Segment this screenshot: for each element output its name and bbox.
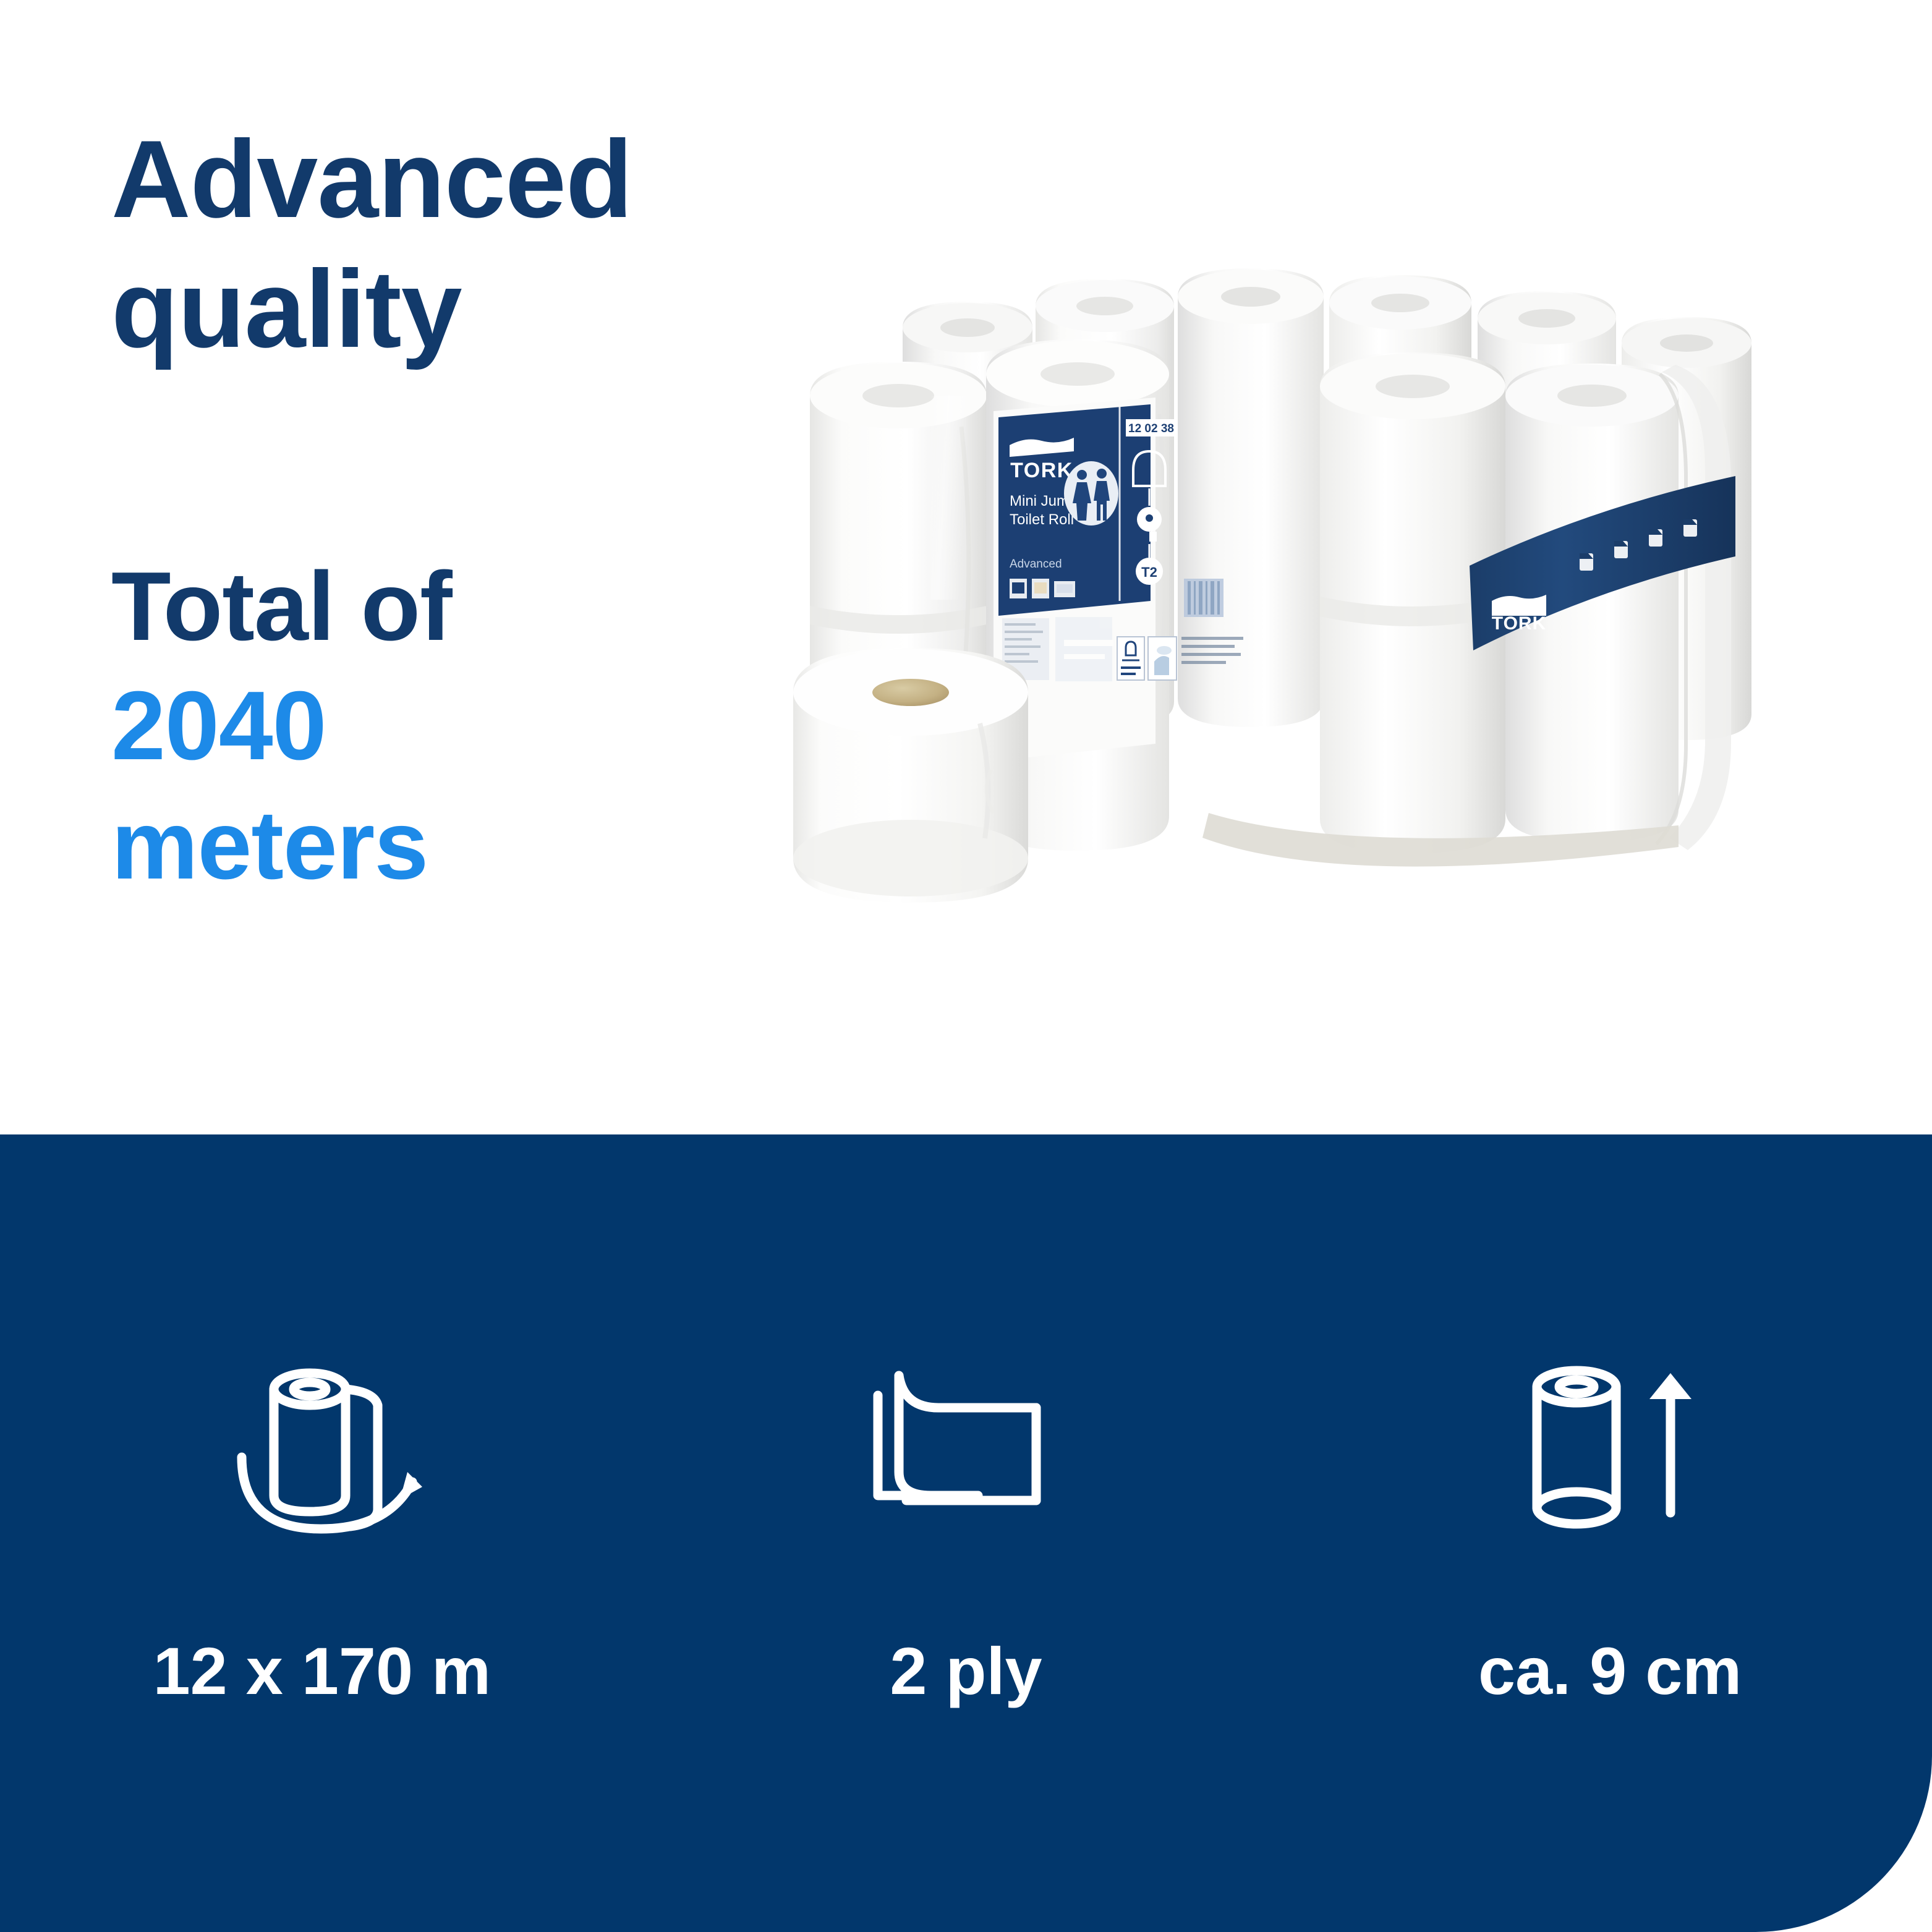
spec-row: 12 x 170 m 2 ply — [0, 1134, 1932, 1932]
stat-value-unit: meters — [111, 786, 822, 905]
label-product-code: 12 02 38 — [1128, 422, 1174, 435]
label-tork-logo: TORK — [1010, 438, 1074, 482]
dispenser-thumbnails — [1010, 579, 1075, 598]
stat-lead-text: Total of — [111, 547, 822, 666]
roll-core — [872, 679, 949, 706]
spec-label-height: ca. 9 cm — [1478, 1632, 1742, 1709]
front-loose-roll — [793, 648, 1028, 903]
label-quality-tier: Advanced — [1010, 558, 1062, 571]
spec-item-ply: 2 ply — [731, 1348, 1201, 1709]
product-photo: TORK — [776, 210, 1889, 983]
t2-system-badge: T2 — [1136, 558, 1163, 585]
spec-label-ply: 2 ply — [890, 1632, 1042, 1709]
label-product-name-line2: Toilet Roll — [1010, 511, 1074, 528]
label-brand-text: TORK — [1010, 459, 1073, 482]
svg-text:T2: T2 — [1141, 564, 1157, 580]
spec-label-length: 12 x 170 m — [153, 1632, 491, 1709]
banner-tork-logo: TORK — [1492, 595, 1546, 634]
roll-length-icon — [217, 1348, 427, 1552]
label-barcode — [1184, 579, 1223, 617]
spec-item-length: 12 x 170 m — [87, 1348, 557, 1709]
headline-line-1: Advanced — [111, 114, 822, 244]
svg-text:TORK: TORK — [1492, 613, 1546, 634]
stat-value-number: 2040 — [111, 666, 822, 786]
ply-sheets-icon — [861, 1348, 1071, 1552]
headline-block: Advanced quality — [111, 114, 822, 374]
stat-block: Total of 2040 meters — [111, 547, 822, 904]
top-section: Advanced quality Total of 2040 meters — [0, 0, 1932, 1134]
headline-line-2: quality — [111, 244, 822, 374]
roll-height-icon — [1505, 1348, 1715, 1552]
spec-item-height: ca. 9 cm — [1375, 1348, 1845, 1709]
spec-panel: 12 x 170 m 2 ply — [0, 1134, 1932, 1932]
